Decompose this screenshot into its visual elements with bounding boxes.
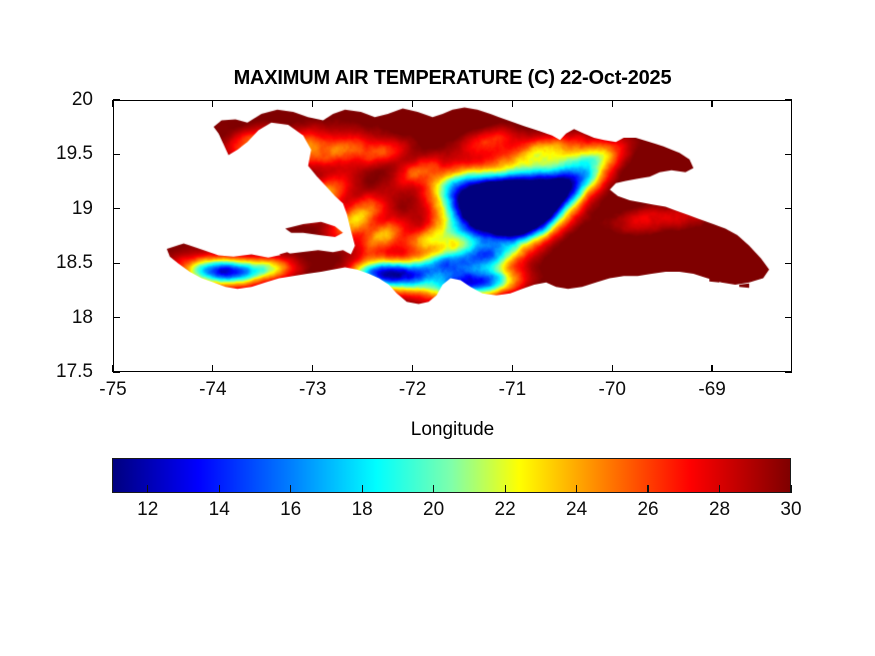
x-tick-6: [711, 100, 712, 107]
x-tick-label-6: -69: [677, 379, 747, 401]
x-tick-4: [512, 100, 513, 107]
colorbar-tick-5: [505, 485, 506, 493]
colorbar-tick-label-2: 16: [261, 499, 321, 521]
x-tick-2: [312, 100, 313, 107]
y-tick-5: [785, 99, 792, 100]
x-tick-1: [212, 100, 213, 107]
colorbar-tick-label-4: 20: [404, 499, 464, 521]
x-tick-label-1: -74: [178, 379, 248, 401]
colorbar-tick-8: [719, 485, 720, 493]
x-tick-6: [711, 365, 712, 372]
y-tick-4: [785, 154, 792, 155]
colorbar-tick-0: [147, 485, 148, 493]
colorbar-tick-1: [219, 485, 220, 493]
colorbar-tick-label-5: 22: [475, 499, 535, 521]
colorbar: [112, 458, 791, 493]
y-tick-2: [785, 263, 792, 264]
y-tick-1: [113, 317, 120, 318]
y-tick-3: [785, 208, 792, 209]
x-tick-label-4: -71: [477, 379, 547, 401]
colorbar-tick-2: [290, 485, 291, 493]
colorbar-tick-label-6: 24: [547, 499, 607, 521]
colorbar-tick-label-0: 12: [118, 499, 178, 521]
figure-canvas: MAXIMUM AIR TEMPERATURE (C) 22-Oct-2025 …: [0, 0, 875, 656]
y-tick-label-5: 20: [0, 89, 101, 111]
x-tick-0: [112, 100, 113, 107]
y-tick-3: [113, 208, 120, 209]
y-tick-label-0: 17.5: [0, 361, 101, 383]
page-title: MAXIMUM AIR TEMPERATURE (C) 22-Oct-2025: [113, 67, 792, 90]
y-tick-4: [113, 154, 120, 155]
y-tick-label-2: 18.5: [0, 252, 101, 274]
x-tick-5: [612, 100, 613, 107]
colorbar-tick-label-1: 14: [189, 499, 249, 521]
y-tick-2: [113, 263, 120, 264]
map-axes: [113, 100, 792, 372]
x-tick-label-3: -72: [378, 379, 448, 401]
colorbar-gradient: [112, 458, 791, 493]
colorbar-tick-label-3: 18: [332, 499, 392, 521]
colorbar-tick-7: [647, 485, 648, 493]
colorbar-tick-6: [576, 485, 577, 493]
colorbar-tick-3: [362, 485, 363, 493]
x-tick-3: [412, 100, 413, 107]
x-tick-label-5: -70: [577, 379, 647, 401]
y-tick-0: [785, 371, 792, 372]
colorbar-tick-4: [433, 485, 434, 493]
y-tick-label-3: 19: [0, 198, 101, 220]
x-tick-1: [212, 365, 213, 372]
y-tick-label-4: 19.5: [0, 143, 101, 165]
x-tick-5: [612, 365, 613, 372]
temperature-heatmap: [114, 101, 791, 371]
x-tick-4: [512, 365, 513, 372]
x-tick-3: [412, 365, 413, 372]
y-tick-5: [113, 99, 120, 100]
colorbar-tick-9: [790, 485, 791, 493]
colorbar-tick-label-9: 30: [761, 499, 821, 521]
y-tick-1: [785, 317, 792, 318]
x-axis-label: Longitude: [113, 419, 792, 441]
colorbar-tick-label-8: 28: [690, 499, 750, 521]
y-tick-0: [113, 371, 120, 372]
y-tick-label-1: 18: [0, 307, 101, 329]
x-tick-2: [312, 365, 313, 372]
x-tick-label-2: -73: [278, 379, 348, 401]
colorbar-tick-label-7: 26: [618, 499, 678, 521]
